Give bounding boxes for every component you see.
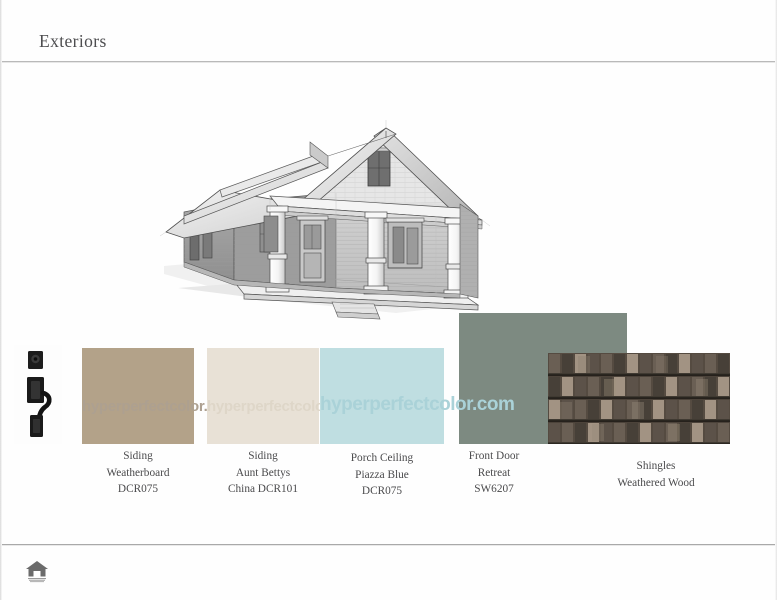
caption-shingles-weathered-wood: Shingles Weathered Wood [592, 458, 720, 491]
caption-siding-aunt-bettys-china: Siding Aunt Bettys China DCR101 [207, 448, 319, 498]
swatch-door-handleset-hardware[interactable] [14, 345, 62, 444]
caption-line: Shingles [592, 458, 720, 475]
caption-front-door-retreat: Front Door Retreat SW6207 [448, 448, 540, 498]
swatch-color-porch-ceiling-piazza-blue [320, 348, 444, 444]
exterior-palette: hyperperfectcolor.com hyperperfectcolor.… [0, 300, 777, 530]
caption-line: Aunt Bettys [207, 465, 319, 482]
exterior-house-rendering [160, 98, 492, 330]
swatch-siding-weatherboard[interactable]: hyperperfectcolor.com [82, 348, 194, 444]
caption-line: Siding [82, 448, 194, 465]
swatch-shingles-weathered-wood[interactable] [548, 353, 730, 444]
swatch-color-siding-aunt-bettys-china [207, 348, 319, 444]
page-title: Exteriors [39, 31, 107, 52]
caption-line: China DCR101 [207, 481, 319, 498]
swatch-color-siding-weatherboard [82, 348, 194, 444]
caption-line: Porch Ceiling [320, 450, 444, 467]
caption-line: Front Door [448, 448, 540, 465]
caption-line: Weathered Wood [592, 475, 720, 492]
footer-divider-shadow [2, 545, 775, 546]
swatch-siding-aunt-bettys-china[interactable]: hyperperfectcolor.com [207, 348, 319, 444]
caption-line: Retreat [448, 465, 540, 482]
page-canvas: Exteriors [0, 0, 777, 600]
caption-line: Weatherboard [82, 465, 194, 482]
caption-siding-weatherboard: Siding Weatherboard DCR075 [82, 448, 194, 498]
caption-line: DCR075 [82, 481, 194, 498]
header-divider-shadow [2, 62, 775, 63]
equal-housing-opportunity-logo [24, 559, 50, 583]
caption-line: Piazza Blue [320, 467, 444, 484]
caption-line: DCR075 [320, 483, 444, 500]
page-header: Exteriors [0, 0, 777, 62]
swatch-porch-ceiling-piazza-blue[interactable]: hyperperfectcolor.com [320, 348, 444, 444]
shingle-texture [548, 353, 730, 444]
caption-porch-ceiling-piazza-blue: Porch Ceiling Piazza Blue DCR075 [320, 450, 444, 500]
caption-line: SW6207 [448, 481, 540, 498]
caption-line: Siding [207, 448, 319, 465]
door-handleset-icon [14, 345, 62, 444]
